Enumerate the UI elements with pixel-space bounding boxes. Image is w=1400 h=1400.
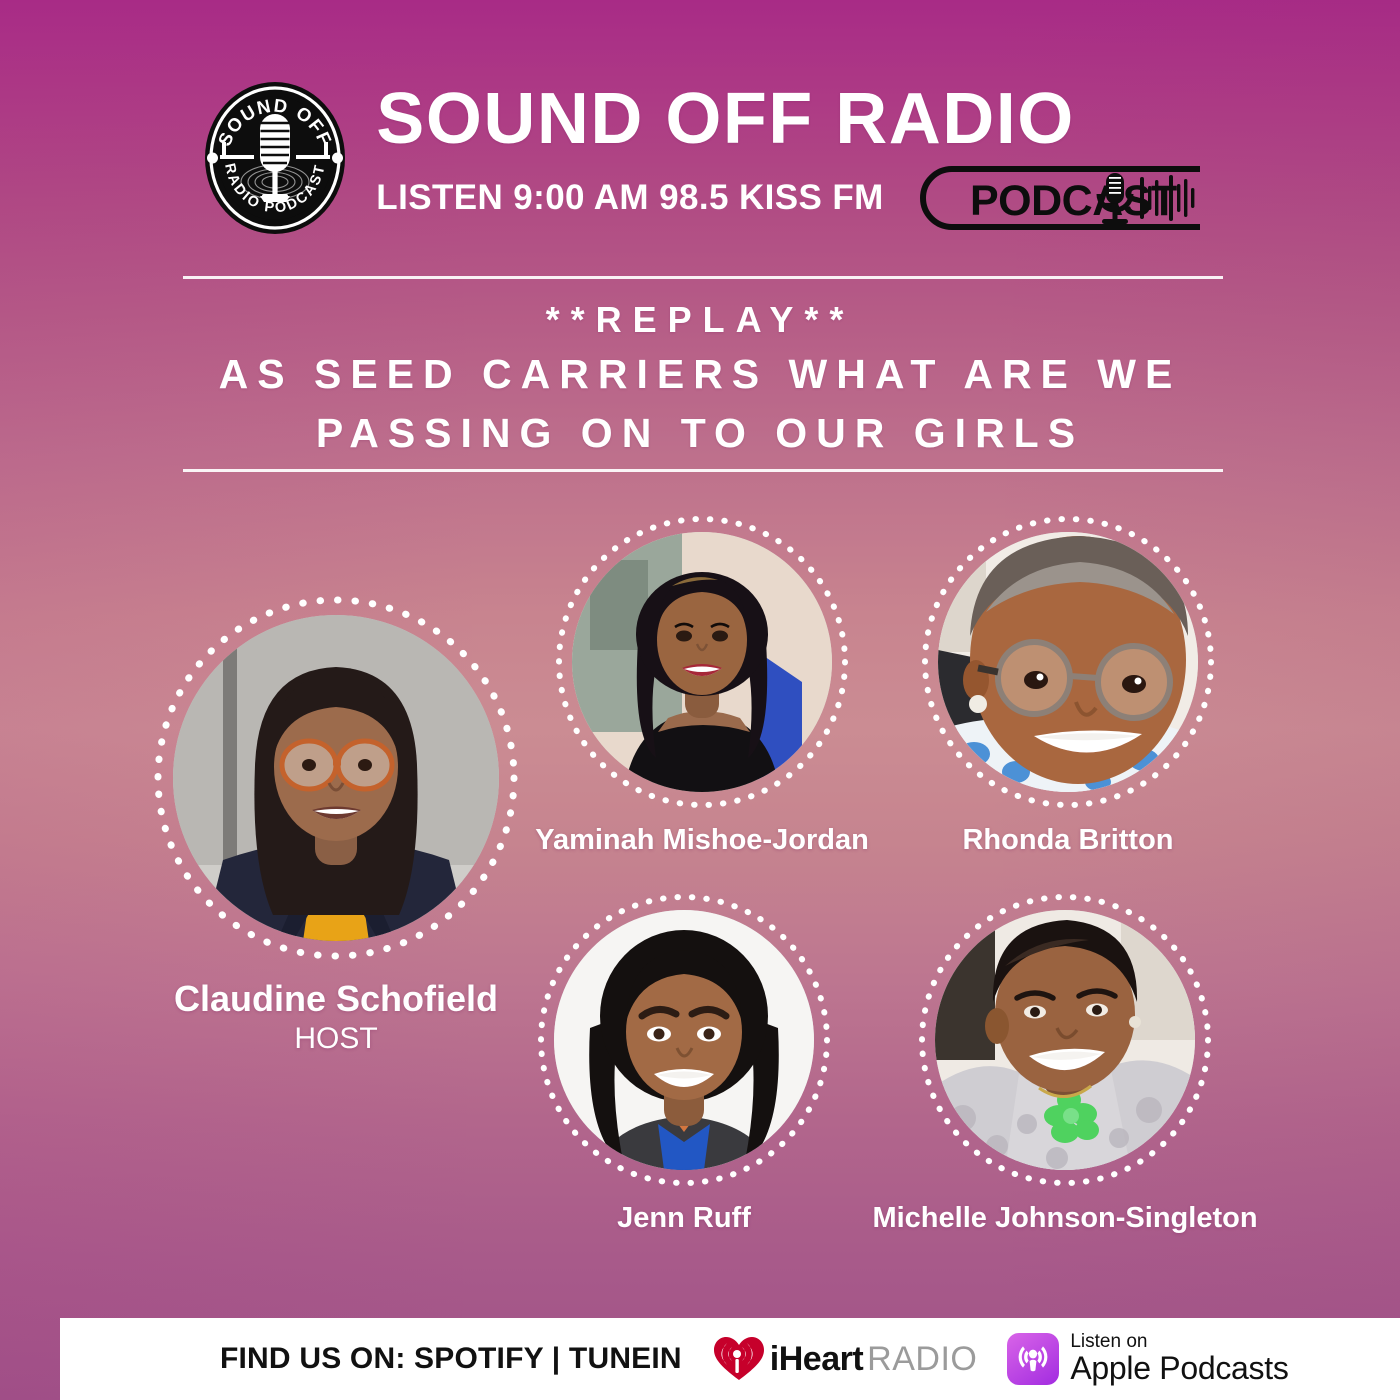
- avatar-wrap: [915, 890, 1215, 1190]
- apple-podcasts-icon: [1007, 1333, 1059, 1385]
- apple-podcasts-logo[interactable]: Listen on Apple Podcasts: [1007, 1332, 1288, 1386]
- panelist-name: Michelle Johnson-Singleton: [872, 1202, 1257, 1235]
- panelist-rhonda: Rhonda Britton: [918, 512, 1218, 812]
- apple-podcasts-wordmark: Apple Podcasts: [1070, 1352, 1288, 1386]
- avatar: [572, 532, 832, 792]
- panelist-name: Yaminah Mishoe-Jordan: [535, 824, 869, 857]
- panelist-host: Claudine Schofield HOST: [150, 592, 522, 964]
- avatar: [938, 532, 1198, 792]
- panelist-yaminah: Yaminah Mishoe-Jordan: [552, 512, 852, 812]
- iheart-wordmark: iHeart: [770, 1340, 863, 1379]
- panelist-name: Rhonda Britton: [962, 824, 1173, 857]
- avatar-wrap: [552, 512, 852, 812]
- footer-bar: FIND US ON: SPOTIFY | TUNEIN iHeart RADI…: [60, 1318, 1400, 1400]
- iheartradio-heart-icon: [712, 1335, 766, 1383]
- sound-off-radio-podcast-badge-icon: SOUND OFF RADIO PODCAST: [200, 78, 350, 238]
- avatar: [554, 910, 814, 1170]
- replay-tag: **REPLAY**: [0, 296, 1400, 345]
- panelist-role: HOST: [294, 1022, 377, 1056]
- podcast-badge: PODCAST: [900, 163, 1200, 233]
- iheart-radio-suffix: RADIO: [867, 1340, 977, 1379]
- avatar: [935, 910, 1195, 1170]
- avatar-wrap: [534, 890, 834, 1190]
- episode-title-line-2: PASSING ON TO OUR GIRLS: [0, 404, 1400, 463]
- divider-top: [183, 276, 1223, 279]
- divider-bottom: [183, 469, 1223, 472]
- brand-title: SOUND OFF RADIO: [376, 83, 1074, 156]
- apple-listen-on-label: Listen on: [1070, 1332, 1288, 1352]
- brand-subtitle: LISTEN 9:00 AM 98.5 KISS FM: [376, 178, 883, 218]
- panelist-name: Jenn Ruff: [617, 1202, 751, 1235]
- find-us-on-label: FIND US ON: SPOTIFY | TUNEIN: [220, 1342, 682, 1376]
- episode-title-line-1: AS SEED CARRIERS WHAT ARE WE: [0, 345, 1400, 404]
- episode-title-block: **REPLAY** AS SEED CARRIERS WHAT ARE WE …: [0, 296, 1400, 463]
- iheartradio-logo[interactable]: iHeart RADIO: [712, 1335, 978, 1383]
- panelist-jenn: Jenn Ruff: [534, 890, 834, 1190]
- panelist-michelle: Michelle Johnson-Singleton: [915, 890, 1215, 1190]
- avatar: [173, 615, 499, 941]
- avatar-wrap: [918, 512, 1218, 812]
- panelist-name: Claudine Schofield: [174, 978, 498, 1020]
- svg-text:PODCAST: PODCAST: [970, 177, 1177, 225]
- avatar-wrap: [150, 592, 522, 964]
- header: SOUND OFF RADIO PODCAST SOUND OFF RADIO …: [0, 78, 1400, 238]
